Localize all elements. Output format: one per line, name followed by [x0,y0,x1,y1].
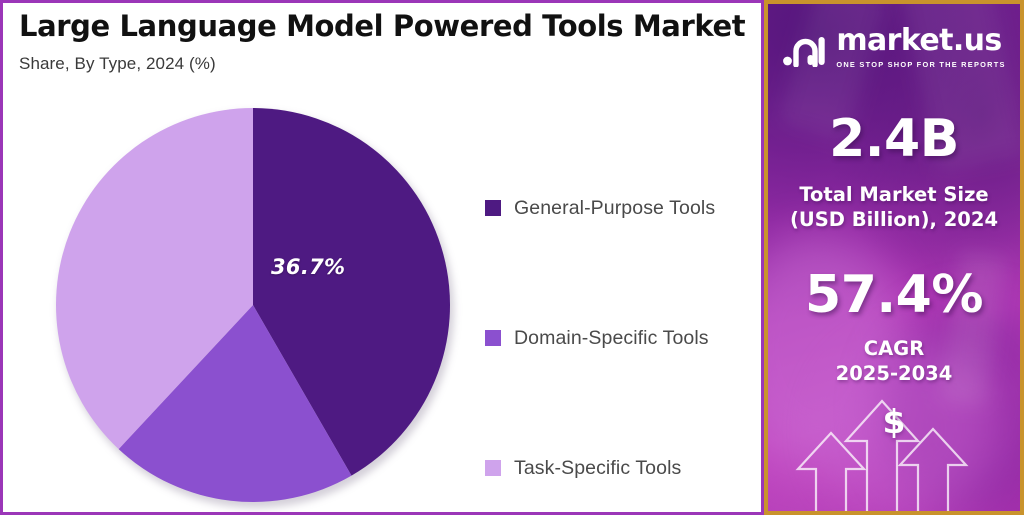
brand-name: market.us [836,26,1005,56]
brand-tagline: ONE STOP SHOP FOR THE REPORTS [836,60,1005,69]
stat-caption-market-size: Total Market Size (USD Billion), 2024 [768,183,1020,233]
stat-caption-line1: Total Market Size [768,183,1020,208]
legend-swatch-icon [485,330,501,346]
legend-item-domain-specific[interactable]: Domain-Specific Tools [485,273,755,403]
pie-slice-label-general-purpose: 36.7% [271,255,345,279]
page-subtitle: Share, By Type, 2024 (%) [19,54,739,74]
stats-content: market.us ONE STOP SHOP FOR THE REPORTS … [768,26,1020,515]
legend-label: Task-Specific Tools [514,457,681,480]
chart-legend: General-Purpose Tools Domain-Specific To… [485,143,755,515]
title-block: Large Language Model Powered Tools Marke… [19,9,739,74]
market-us-logo-icon [782,29,828,67]
brand-logo[interactable]: market.us ONE STOP SHOP FOR THE REPORTS [768,26,1020,69]
pie-chart: 36.7% [55,107,451,503]
stat-value-cagr: 57.4% [768,269,1020,321]
stat-caption-cagr: CAGR 2025-2034 [768,337,1020,387]
legend-item-task-specific[interactable]: Task-Specific Tools [485,403,755,515]
stats-panel: market.us ONE STOP SHOP FOR THE REPORTS … [764,0,1024,515]
legend-label: General-Purpose Tools [514,197,715,220]
infographic-root: Large Language Model Powered Tools Marke… [0,0,1024,515]
legend-label: Domain-Specific Tools [514,327,709,350]
chart-panel: Large Language Model Powered Tools Marke… [0,0,764,515]
stat-caption-line2: 2025-2034 [768,362,1020,387]
brand-text: market.us ONE STOP SHOP FOR THE REPORTS [836,26,1005,69]
stat-caption-line2: (USD Billion), 2024 [768,208,1020,233]
page-title: Large Language Model Powered Tools Marke… [19,9,739,44]
dollar-sign-icon: $ [768,402,1020,441]
legend-swatch-icon [485,200,501,216]
pie-svg [55,107,451,503]
stat-value-market-size: 2.4B [768,113,1020,165]
legend-swatch-icon [485,460,501,476]
legend-item-general-purpose[interactable]: General-Purpose Tools [485,143,755,273]
stat-caption-line1: CAGR [768,337,1020,362]
